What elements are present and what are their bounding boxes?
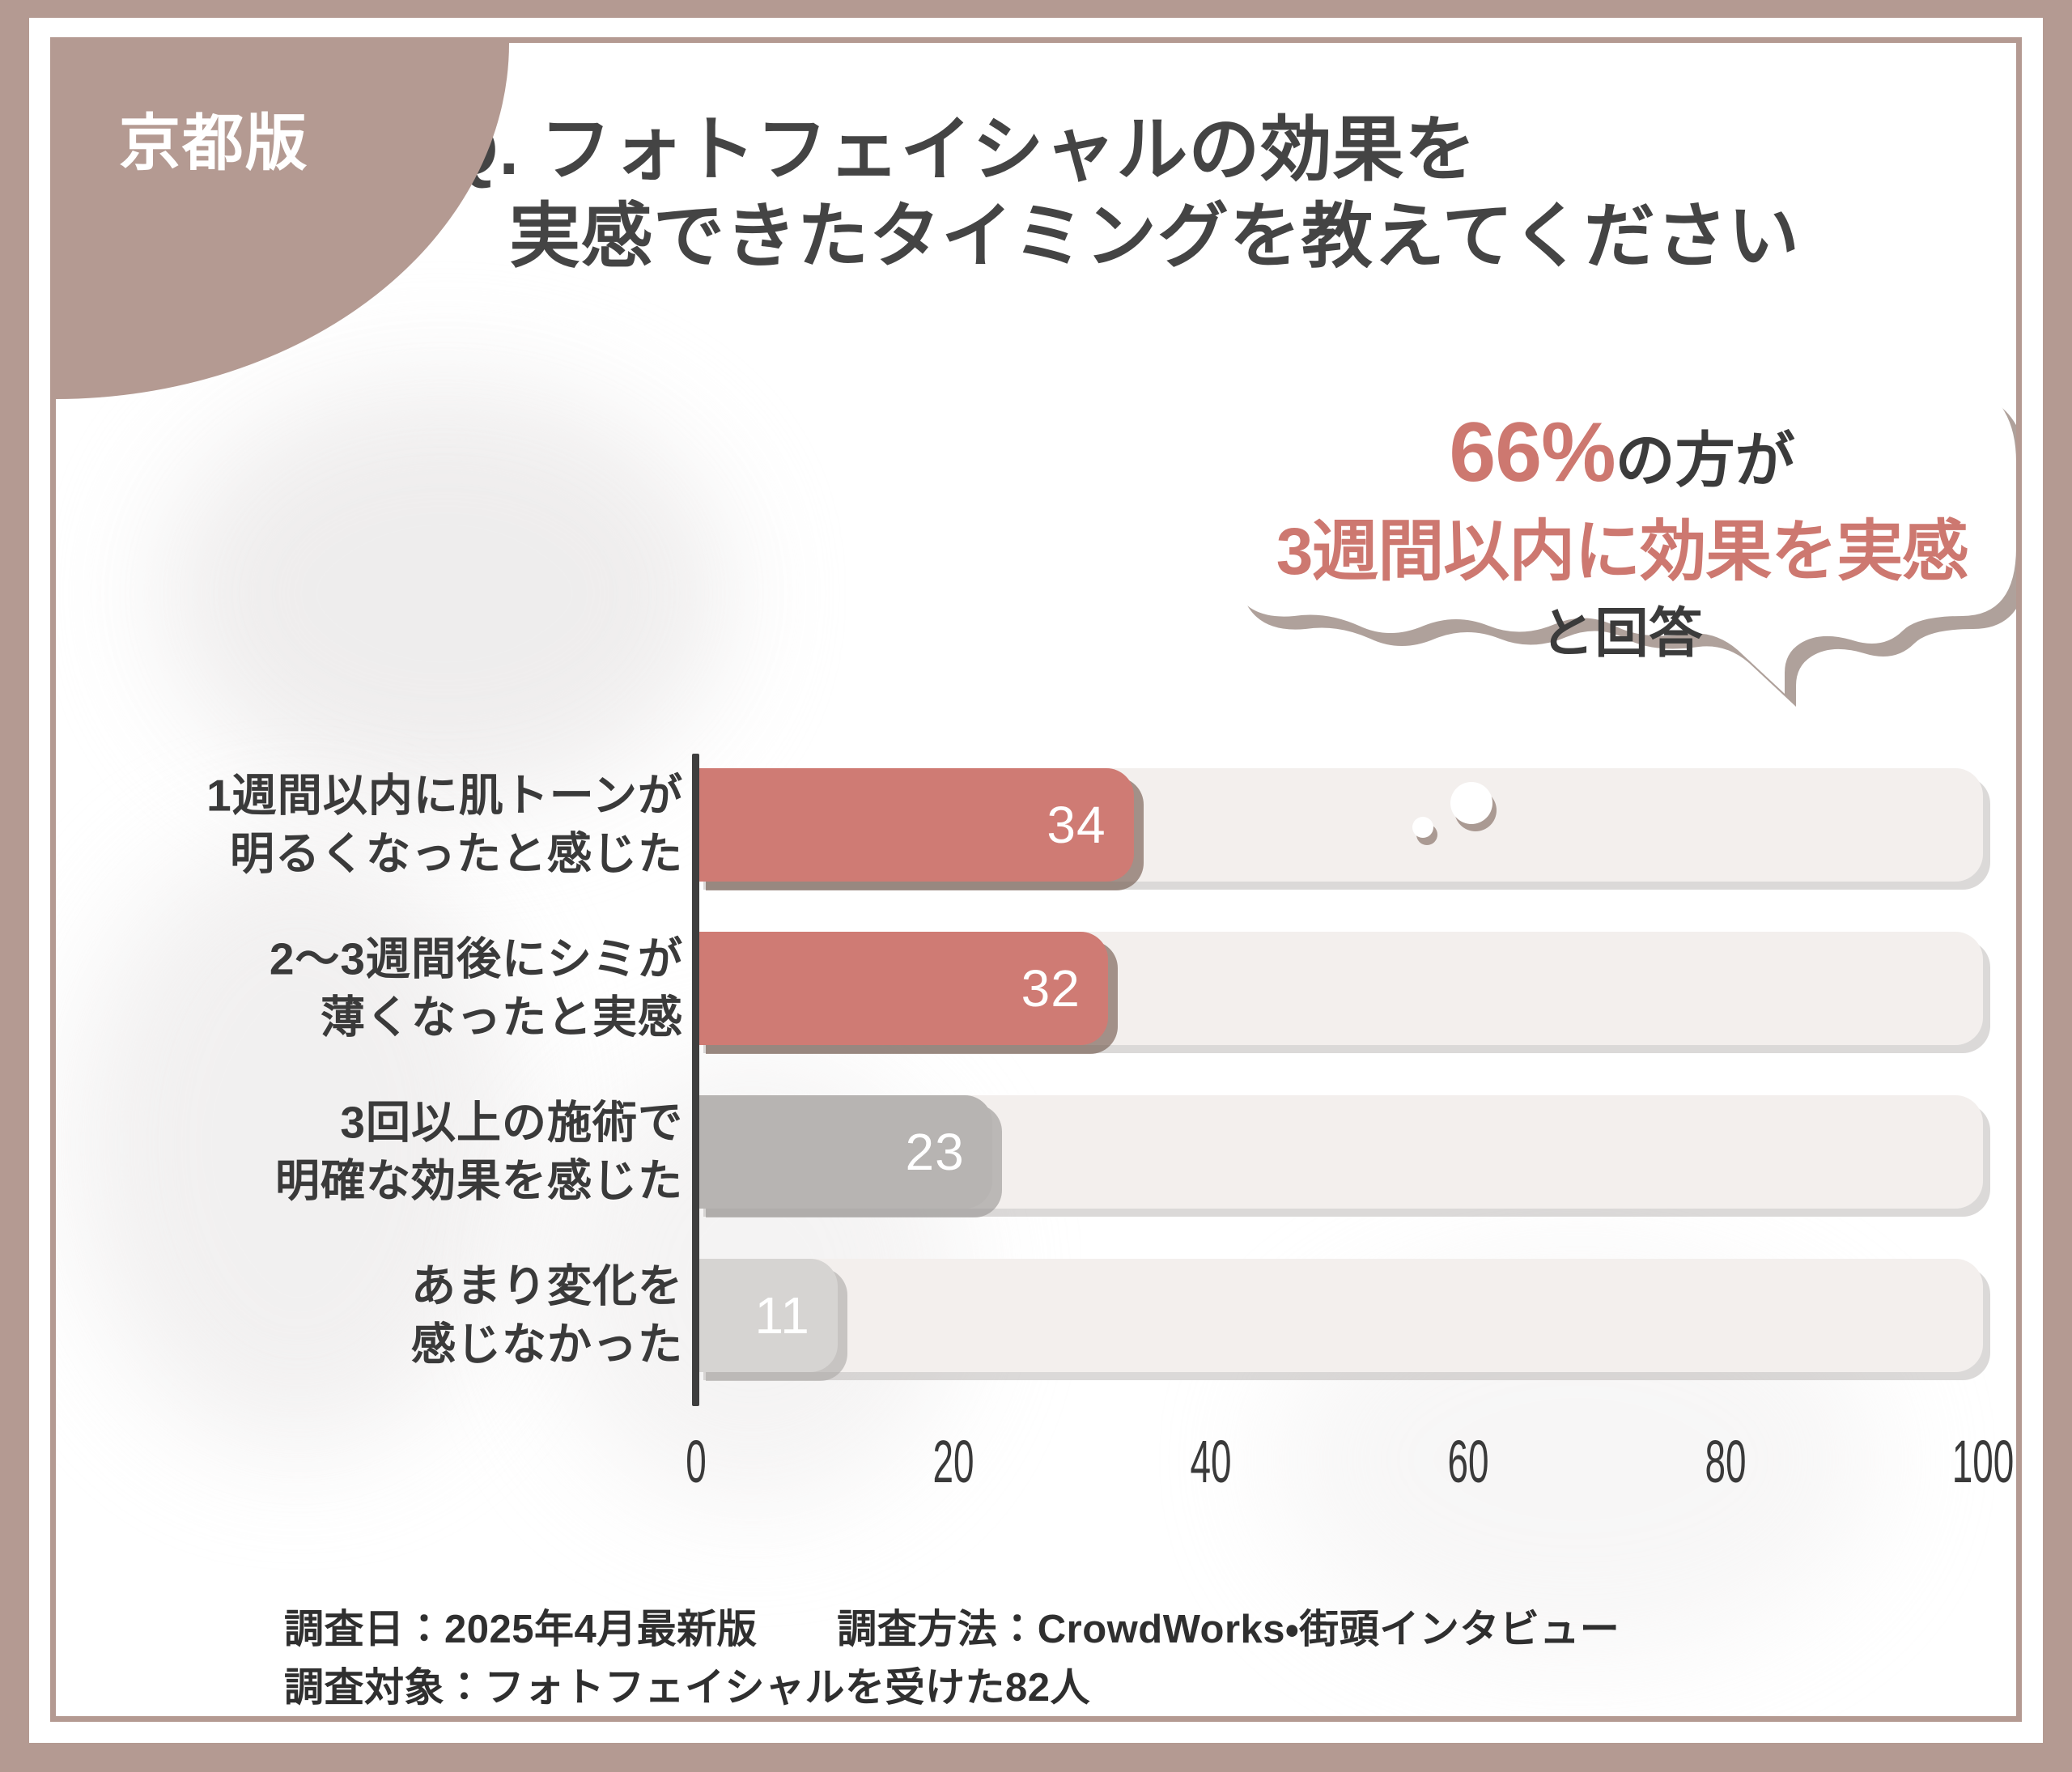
bar-row: 3回以上の施術で 明確な効果を感じた23 (56, 1081, 2015, 1222)
bar-row: あまり変化を 感じなかった11 (56, 1244, 2015, 1386)
bar-value-label: 34 (1047, 795, 1133, 855)
x-axis-tick-label: 80 (1692, 1427, 1759, 1496)
callout-percent-suffix: の方が (1616, 427, 1795, 494)
bar-rows: 1週間以内に肌トーンが 明るくなったと感じた342〜3週間後にシミが 薄くなった… (56, 754, 2015, 1408)
callout-percent: 66% (1449, 406, 1615, 499)
x-axis-tick-label: 40 (1178, 1427, 1244, 1496)
callout-line-2: 3週間以内に効果を実感 (1205, 519, 2016, 585)
survey-meta-line-1: 調査日：2025年4月最新版 調査方法：CrowdWorks・街頭インタビュー (284, 1601, 1620, 1659)
bar-value-label: 23 (906, 1122, 992, 1182)
x-axis-tick-label: 100 (1933, 1427, 2016, 1496)
bar-row-label: あまり変化を 感じなかった (117, 1256, 683, 1374)
bubble-tail-dot-large (1450, 782, 1492, 824)
bar-row-label: 1週間以内に肌トーンが 明るくなったと感じた (117, 766, 683, 883)
x-axis-tick-label: 60 (1435, 1427, 1501, 1496)
callout-text: 66%の方が 3週間以内に効果を実感 と回答 (1205, 410, 2016, 660)
page-title: Q. フォトフェイシャルの効果を 実感できたタイミングを教えてください (404, 106, 2006, 280)
bar-row-label: 2〜3週間後にシミが 薄くなったと実感 (117, 929, 683, 1047)
bar-fill: 11 (696, 1259, 838, 1372)
infographic-poster: 京都版 Q. フォトフェイシャルの効果を 実感できたタイミングを教えてください … (0, 0, 2072, 1772)
bar-row: 1週間以内に肌トーンが 明るくなったと感じた34 (56, 754, 2015, 895)
bubble-tail-dot-small (1412, 817, 1433, 838)
callout-bubble: 66%の方が 3週間以内に効果を実感 と回答 (1205, 373, 2016, 721)
bar-track (696, 1259, 1983, 1372)
y-axis-line (692, 754, 699, 1406)
x-axis-tick-label: 0 (679, 1427, 712, 1496)
survey-meta-line-2: 調査対象：フォトフェイシャルを受けた82人 (284, 1659, 1620, 1716)
page-title-line-2: 実感できたタイミングを教えてください (404, 193, 2006, 279)
survey-meta: 調査日：2025年4月最新版 調査方法：CrowdWorks・街頭インタビュー … (284, 1601, 1620, 1716)
corner-badge: 京都版 (56, 43, 509, 399)
x-axis-tick-label: 20 (920, 1427, 987, 1496)
bar-row: 2〜3週間後にシミが 薄くなったと実感32 (56, 917, 2015, 1059)
bar-fill: 34 (696, 768, 1134, 882)
bar-value-label: 11 (754, 1285, 837, 1345)
bar-fill: 23 (696, 1095, 992, 1209)
content-canvas: 京都版 Q. フォトフェイシャルの効果を 実感できたタイミングを教えてください … (56, 43, 2016, 1716)
bar-chart: 1週間以内に肌トーンが 明るくなったと感じた342〜3週間後にシミが 薄くなった… (56, 715, 2015, 1573)
callout-line-3: と回答 (1205, 606, 2016, 660)
bar-value-label: 32 (1021, 958, 1108, 1018)
bar-row-label: 3回以上の施術で 明確な効果を感じた (117, 1093, 683, 1210)
x-axis-ticks: 020406080100 (696, 1427, 1983, 1508)
page-title-line-1: Q. フォトフェイシャルの効果を (404, 106, 2006, 193)
corner-badge-label: 京都版 (119, 93, 308, 182)
callout-line-1: 66%の方が (1205, 410, 2016, 495)
bar-fill: 32 (696, 932, 1108, 1045)
